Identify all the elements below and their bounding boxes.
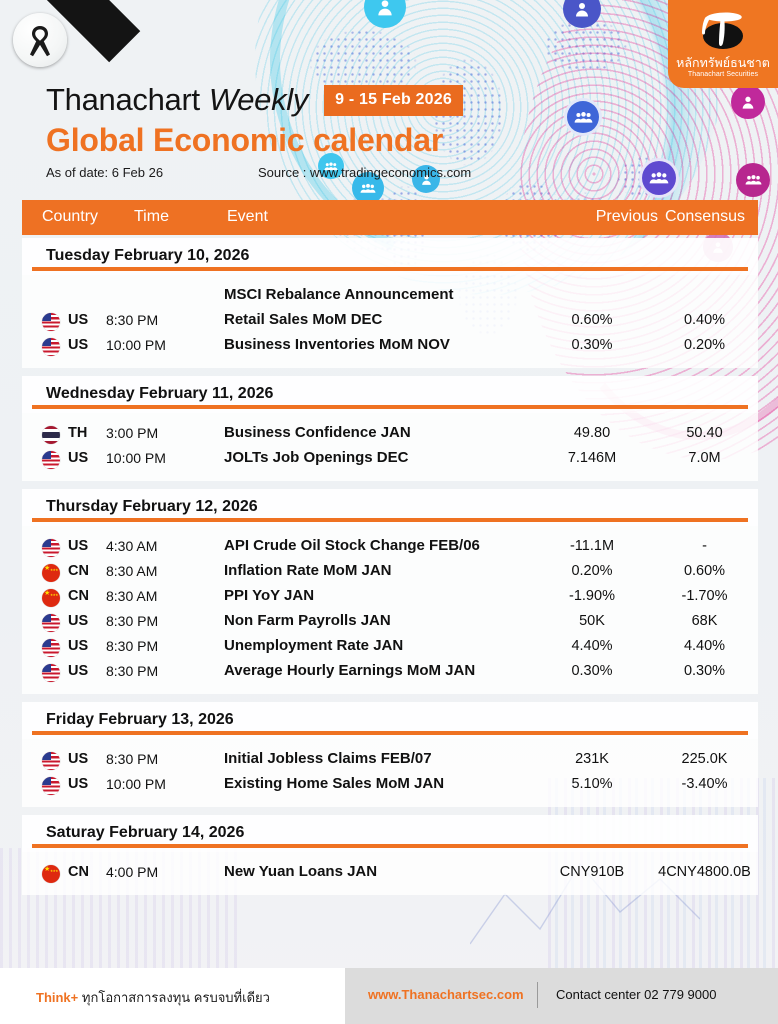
day-header: Saturay February 14, 2026 [22,815,758,852]
table-row[interactable]: US8:30 PMInitial Jobless Claims FEB/0723… [22,748,758,773]
footer-website-link[interactable]: www.Thanachartsec.com [368,987,524,1002]
cell-event: Non Farm Payrolls JAN [224,612,391,629]
footer-think-plus: Think+ [36,990,78,1005]
cell-previous: 0.60% [522,312,662,328]
cell-previous: 50K [522,613,662,629]
day-header-rule [32,405,748,409]
table-row[interactable]: US4:30 AMAPI Crude Oil Stock Change FEB/… [22,535,758,560]
cell-country: US [68,538,102,554]
cell-country: US [68,776,102,792]
cell-previous: 4.40% [522,638,662,654]
as-of-date: As of date: 6 Feb 26 [46,165,163,180]
cell-previous: 7.146M [522,450,662,466]
cell-time: 10:00 PM [106,450,194,466]
day-header-label: Friday February 13, 2026 [46,711,234,729]
poster-root: หลักทรัพย์ธนชาต Thanachart Securities Th… [0,0,778,1024]
day-rows-panel: US4:30 AMAPI Crude Oil Stock Change FEB/… [22,526,758,694]
cell-time: 8:30 PM [106,312,194,328]
cell-event: JOLTs Job Openings DEC [224,449,408,466]
cell-previous: -11.1M [522,538,662,554]
cell-event: Retail Sales MoM DEC [224,311,382,328]
source-label: Source : www.tradingeconomics.com [258,165,471,180]
cell-time: 8:30 PM [106,638,194,654]
cell-country: US [68,663,102,679]
day-header-label: Saturay February 14, 2026 [46,824,244,842]
cell-event: Average Hourly Earnings MoM JAN [224,662,475,679]
cell-consensus: 50.40 [642,425,767,441]
day-header-rule [32,267,748,271]
table-row[interactable]: US10:00 PMJOLTs Job Openings DEC7.146M7.… [22,447,758,472]
page-footer: Think+ ทุกโอกาสการลงทุน ครบจบที่เดียว ww… [0,968,778,1024]
cell-event: PPI YoY JAN [224,587,314,604]
title-weekly: Weekly [209,82,308,118]
flag-th-icon [42,426,60,444]
day-header: Tuesday February 10, 2026 [22,238,758,275]
cell-consensus: 0.60% [642,563,767,579]
cell-time: 8:30 AM [106,563,194,579]
cell-consensus: 7.0M [642,450,767,466]
cell-time: 8:30 PM [106,613,194,629]
day-rows-panel: TH3:00 PMBusiness Confidence JAN49.8050.… [22,413,758,481]
flag-us-icon [42,451,60,469]
cell-time: 8:30 PM [106,751,194,767]
flag-us-icon [42,313,60,331]
day-header: Thursday February 12, 2026 [22,489,758,526]
cell-country: US [68,613,102,629]
cell-consensus: 0.40% [642,312,767,328]
cell-previous: 5.10% [522,776,662,792]
table-row[interactable]: US8:30 PMUnemployment Rate JAN4.40%4.40% [22,635,758,660]
cell-consensus: 0.20% [642,337,767,353]
cell-event: Inflation Rate MoM JAN [224,562,392,579]
column-header-consensus: Consensus [22,208,758,226]
flag-us-icon [42,539,60,557]
flag-us-icon [42,752,60,770]
cell-country: US [68,450,102,466]
cell-event: Business Confidence JAN [224,424,411,441]
flag-us-icon [42,614,60,632]
cell-country: US [68,638,102,654]
cell-country: US [68,751,102,767]
cell-time: 8:30 AM [106,588,194,604]
table-row[interactable]: US8:30 PMRetail Sales MoM DEC0.60%0.40% [22,309,758,334]
table-header-bar: Country Time Event Previous Consensus [22,200,758,235]
cell-time: 4:30 AM [106,538,194,554]
cell-event: Business Inventories MoM NOV [224,336,450,353]
flag-us-icon [42,664,60,682]
day-header-rule [32,731,748,735]
table-row[interactable]: MSCI Rebalance Announcement [22,284,758,309]
cell-previous: 0.20% [522,563,662,579]
cell-previous: 0.30% [522,337,662,353]
table-row[interactable]: US8:30 PMAverage Hourly Earnings MoM JAN… [22,660,758,685]
cell-country: CN [68,864,102,880]
table-row[interactable]: CN8:30 AMInflation Rate MoM JAN0.20%0.60… [22,560,758,585]
table-row[interactable]: US8:30 PMNon Farm Payrolls JAN50K68K [22,610,758,635]
day-rows-panel: CN4:00 PMNew Yuan Loans JANCNY910B4CNY48… [22,852,758,895]
table-row[interactable]: CN4:00 PMNew Yuan Loans JANCNY910B4CNY48… [22,861,758,886]
cell-country: TH [68,425,102,441]
flag-cn-icon [42,564,60,582]
cell-consensus: -1.70% [642,588,767,604]
cell-country: US [68,337,102,353]
cell-consensus: 68K [642,613,767,629]
cell-event: New Yuan Loans JAN [224,863,377,880]
title-brand: Thanachart [46,82,200,118]
flag-us-icon [42,777,60,795]
flag-cn-icon [42,589,60,607]
cell-country: CN [68,563,102,579]
cell-country: US [68,312,102,328]
day-header-label: Thursday February 12, 2026 [46,498,258,516]
cell-previous: 231K [522,751,662,767]
cell-event: Unemployment Rate JAN [224,637,403,654]
day-header-rule [32,518,748,522]
table-row[interactable]: US10:00 PMBusiness Inventories MoM NOV0.… [22,334,758,359]
poster-header: Thanachart Weekly 9 - 15 Feb 2026 Global… [0,0,778,200]
cell-previous: -1.90% [522,588,662,604]
cell-event: MSCI Rebalance Announcement [224,286,453,303]
table-row[interactable]: TH3:00 PMBusiness Confidence JAN49.8050.… [22,422,758,447]
footer-tagline: Think+ ทุกโอกาสการลงทุน ครบจบที่เดียว [36,987,270,1008]
cell-consensus: 225.0K [642,751,767,767]
cell-time: 10:00 PM [106,337,194,353]
cell-country: CN [68,588,102,604]
day-header-rule [32,844,748,848]
day-header-label: Tuesday February 10, 2026 [46,247,249,265]
flag-us-icon [42,639,60,657]
cell-consensus: 4CNY4800.0B [642,864,767,880]
footer-divider [537,982,538,1008]
cell-consensus: - [642,538,767,554]
table-row[interactable]: US10:00 PMExisting Home Sales MoM JAN5.1… [22,773,758,798]
cell-time: 10:00 PM [106,776,194,792]
day-rows-panel: US8:30 PMInitial Jobless Claims FEB/0723… [22,739,758,807]
table-row[interactable]: CN8:30 AMPPI YoY JAN-1.90%-1.70% [22,585,758,610]
date-range-badge: 9 - 15 Feb 2026 [324,85,463,116]
cell-consensus: 0.30% [642,663,767,679]
cell-consensus: -3.40% [642,776,767,792]
footer-tagline-thai: ทุกโอกาสการลงทุน ครบจบที่เดียว [82,990,270,1005]
page-title: Global Economic calendar [46,122,443,159]
cell-event: Existing Home Sales MoM JAN [224,775,444,792]
cell-previous: 49.80 [522,425,662,441]
cell-time: 4:00 PM [106,864,194,880]
flag-cn-icon [42,865,60,883]
day-header-label: Wednesday February 11, 2026 [46,385,273,403]
footer-contact-center: Contact center 02 779 9000 [556,987,716,1002]
cell-previous: CNY910B [522,864,662,880]
cell-event: Initial Jobless Claims FEB/07 [224,750,432,767]
cell-previous: 0.30% [522,663,662,679]
day-header: Wednesday February 11, 2026 [22,376,758,413]
day-header: Friday February 13, 2026 [22,702,758,739]
flag-us-icon [42,338,60,356]
cell-consensus: 4.40% [642,638,767,654]
cell-event: API Crude Oil Stock Change FEB/06 [224,537,480,554]
cell-time: 3:00 PM [106,425,194,441]
cell-time: 8:30 PM [106,663,194,679]
day-rows-panel: MSCI Rebalance AnnouncementUS8:30 PMReta… [22,275,758,368]
title-row: Thanachart Weekly 9 - 15 Feb 2026 [46,82,463,118]
